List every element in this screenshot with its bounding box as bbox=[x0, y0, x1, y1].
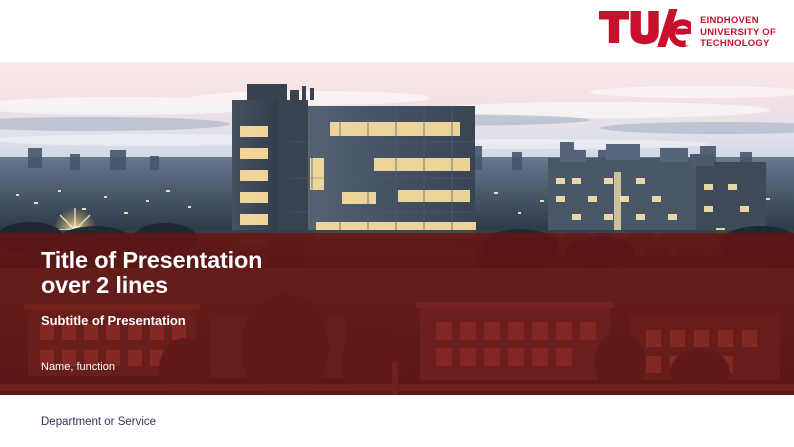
footer-department-label: Department or Service bbox=[41, 415, 156, 429]
logo-word-line-2: UNIVERSITY OF bbox=[700, 27, 776, 38]
tue-logo[interactable]: EINDHOVEN UNIVERSITY OF TECHNOLOGY bbox=[599, 9, 776, 56]
tue-logo-wordmark: EINDHOVEN UNIVERSITY OF TECHNOLOGY bbox=[700, 15, 776, 50]
slide-header: EINDHOVEN UNIVERSITY OF TECHNOLOGY bbox=[0, 0, 794, 62]
logo-word-line-3: TECHNOLOGY bbox=[700, 38, 770, 49]
page-title: Title of Presentation over 2 lines bbox=[41, 248, 561, 298]
tue-logo-mark-icon bbox=[599, 9, 691, 56]
presentation-slide: EINDHOVEN UNIVERSITY OF TECHNOLOGY bbox=[0, 0, 794, 447]
presenter-byline: Name, function bbox=[41, 360, 561, 374]
page-subtitle: Subtitle of Presentation bbox=[41, 313, 561, 329]
slide-footer: Department or Service bbox=[0, 395, 794, 447]
logo-word-line-1: EINDHOVEN bbox=[700, 15, 759, 26]
title-text-block: Title of Presentation over 2 lines Subti… bbox=[41, 248, 561, 374]
